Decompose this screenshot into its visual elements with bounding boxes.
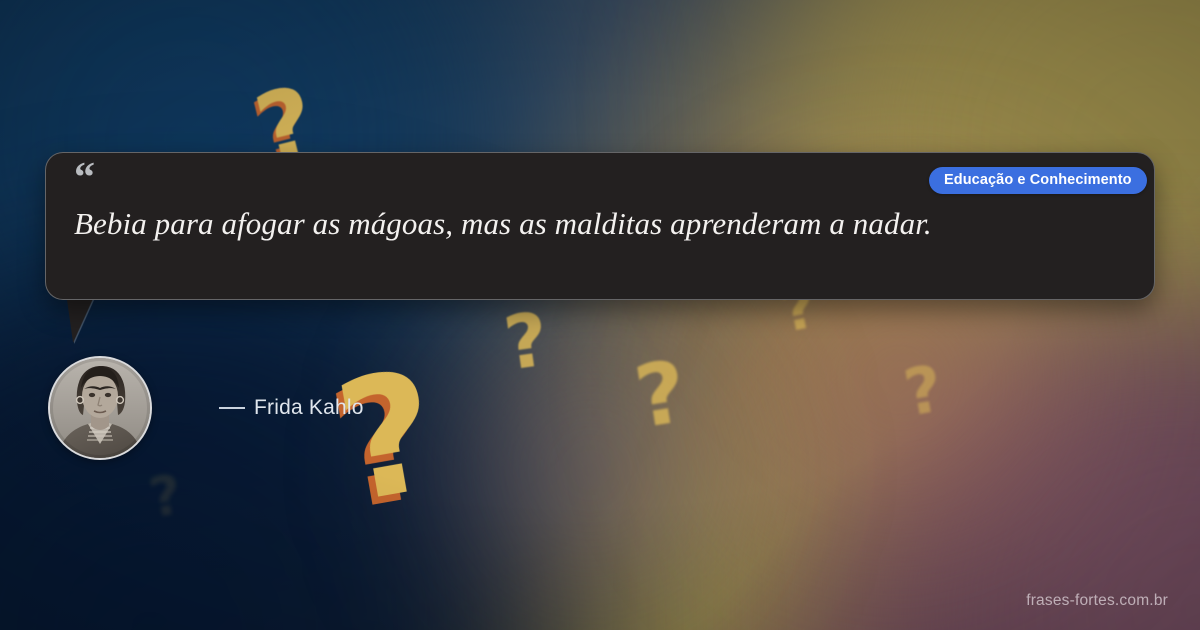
quote-bubble: “ Bebia para afogar as mágoas, mas as ma… [45, 152, 1155, 300]
avatar[interactable] [48, 356, 152, 460]
background-vignette [0, 0, 1200, 630]
author-name: Frida Kahlo [254, 396, 364, 420]
quote-card-canvas: ???????? “ Bebia para afogar as mágoas, … [0, 0, 1200, 630]
avatar-portrait-icon [50, 358, 150, 458]
quote-text: Bebia para afogar as mágoas, mas as mald… [74, 203, 1094, 245]
author-dash-icon [219, 407, 245, 409]
category-badge[interactable]: Educação e Conhecimento [929, 167, 1147, 194]
speech-bubble-tail [67, 299, 113, 343]
author-row: Frida Kahlo [48, 356, 364, 460]
quote-open-mark: “ [74, 157, 94, 199]
site-watermark: frases-fortes.com.br [1026, 592, 1168, 610]
